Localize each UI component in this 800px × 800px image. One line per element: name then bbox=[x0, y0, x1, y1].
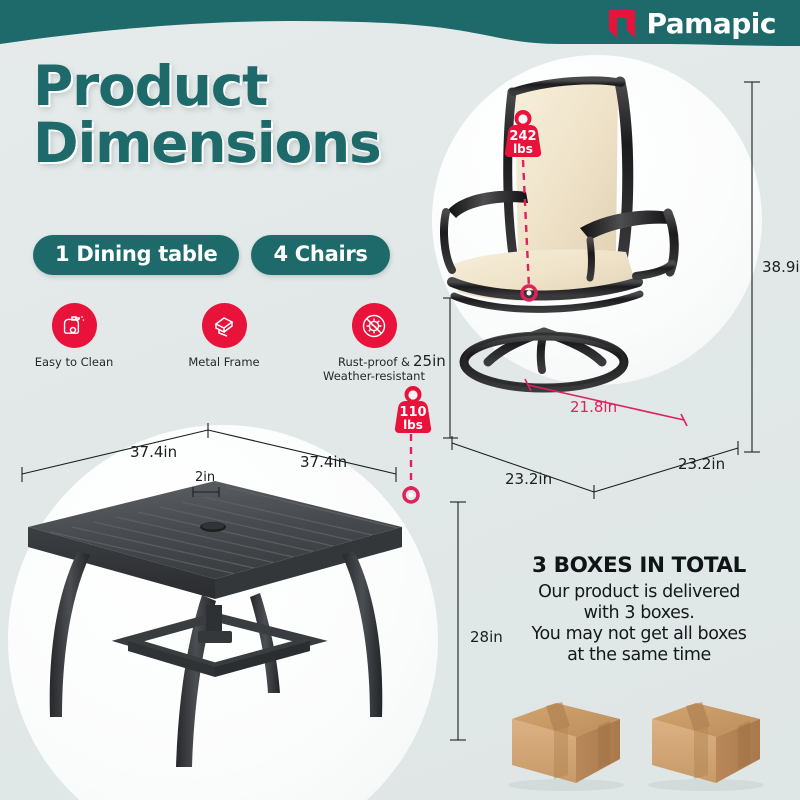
feature-label-line-2: Weather-resistant bbox=[323, 369, 425, 383]
chair-illustration bbox=[440, 70, 760, 400]
metal-sheet-icon bbox=[202, 303, 247, 348]
table-width-label: 37.4in bbox=[130, 443, 177, 461]
table-illustration bbox=[10, 455, 420, 785]
feature-label: Easy to Clean bbox=[35, 355, 114, 369]
chair-seat-height-label: 25in bbox=[413, 352, 446, 370]
feature-list: Easy to Clean Metal Frame bbox=[18, 303, 430, 384]
title-line-1: Product bbox=[33, 58, 381, 115]
no-rust-germ-icon bbox=[352, 303, 397, 348]
feature-rust-proof: Rust-proof & Weather-resistant bbox=[318, 303, 430, 384]
boxes-section: 3 BOXES IN TOTAL Our product is delivere… bbox=[480, 553, 798, 666]
contents-pill-row: 1 Dining table 4 Chairs bbox=[33, 235, 390, 275]
chair-height-label: 38.9in bbox=[762, 258, 800, 276]
badge-unit: lbs bbox=[500, 143, 546, 155]
cardboard-boxes-illustration bbox=[498, 693, 788, 793]
title-line-2: Dimensions bbox=[33, 115, 381, 172]
feature-metal-frame: Metal Frame bbox=[168, 303, 280, 384]
table-depth-label: 37.4in bbox=[300, 453, 347, 471]
spray-bottle-icon bbox=[52, 303, 97, 348]
boxes-line-1: Our product is delivered bbox=[480, 582, 798, 603]
brand-logo: Pamapic bbox=[606, 8, 776, 40]
chair-depth-label: 23.2in bbox=[678, 455, 725, 473]
brand-name: Pamapic bbox=[647, 10, 776, 38]
feature-label-line-1: Rust-proof & bbox=[338, 355, 410, 369]
pill-dining-table: 1 Dining table bbox=[33, 235, 239, 275]
pill-chairs: 4 Chairs bbox=[251, 235, 389, 275]
infographic-page: Pamapic Product Dimensions 1 Dining tabl… bbox=[0, 0, 800, 800]
chair-width-label: 23.2in bbox=[505, 470, 552, 488]
boxes-title: 3 BOXES IN TOTAL bbox=[480, 553, 798, 578]
page-title: Product Dimensions bbox=[33, 58, 381, 171]
pamapic-r-mark-icon bbox=[606, 8, 638, 40]
feature-label: Metal Frame bbox=[188, 355, 259, 369]
table-weight-badge: 110 lbs bbox=[390, 384, 436, 441]
boxes-line-3: You may not get all boxes bbox=[480, 624, 798, 645]
umbrella-hole-label: 2in bbox=[195, 470, 215, 485]
chair-weight-badge: 242 lbs bbox=[500, 108, 546, 165]
boxes-line-4: at the same time bbox=[480, 645, 798, 666]
badge-unit: lbs bbox=[390, 419, 436, 431]
feature-easy-to-clean: Easy to Clean bbox=[18, 303, 130, 384]
chair-base-diameter-label: 21.8in bbox=[570, 398, 617, 416]
boxes-line-2: with 3 boxes. bbox=[480, 603, 798, 624]
